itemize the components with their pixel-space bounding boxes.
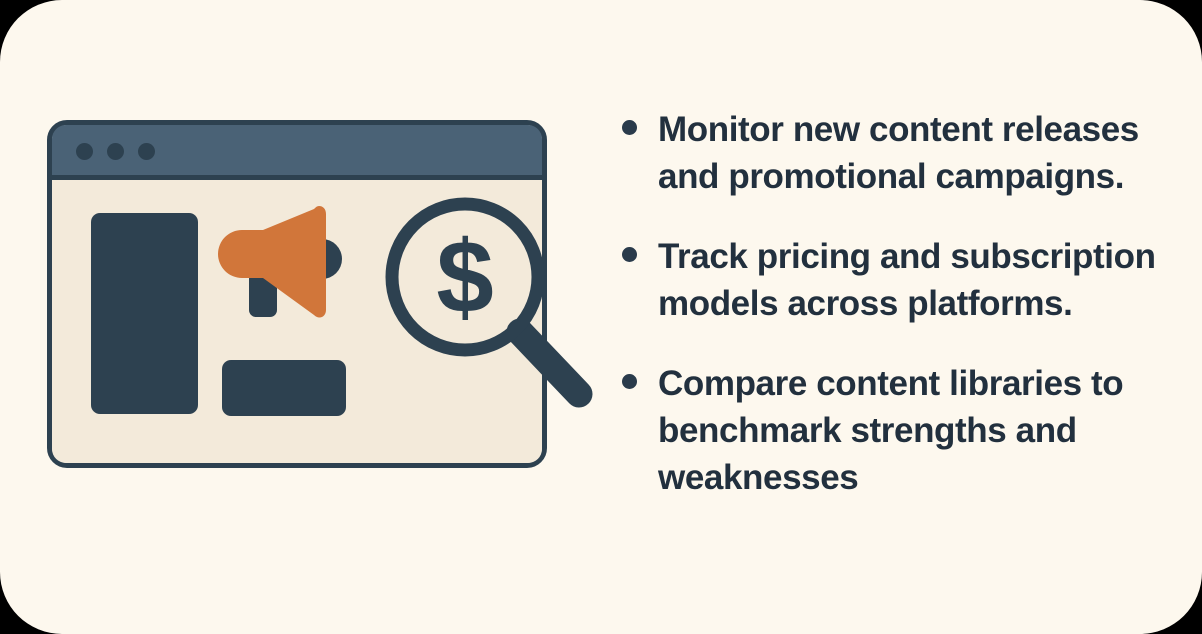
browser-window-illustration: $ <box>47 120 547 468</box>
bullet-item-label: Monitor new content releases and promoti… <box>658 106 1158 200</box>
dollar-symbol: $ <box>436 220 493 335</box>
illustration-pane: $ <box>0 0 600 634</box>
window-dot-close-icon <box>76 143 93 160</box>
bullet-point-icon <box>622 247 637 262</box>
window-control-dots <box>76 143 155 160</box>
content-block-left-tall <box>91 213 198 414</box>
megaphone-icon <box>217 200 352 330</box>
magnifier-dollar-icon: $ <box>372 182 602 417</box>
list-item: Track pricing and subscription models ac… <box>612 233 1202 327</box>
window-body: $ <box>52 180 542 463</box>
bullet-point-icon <box>622 120 637 135</box>
window-dot-minimize-icon <box>107 143 124 160</box>
bullet-item-label: Compare content libraries to benchmark s… <box>658 360 1158 501</box>
content-block-bottom-wide <box>222 360 346 416</box>
bullet-point-icon <box>622 374 637 389</box>
list-item: Compare content libraries to benchmark s… <box>612 360 1202 501</box>
list-item: Monitor new content releases and promoti… <box>612 106 1202 200</box>
slide-card: $ Monitor new content releases and promo… <box>0 0 1202 634</box>
window-titlebar <box>52 125 542 180</box>
bullet-list: Monitor new content releases and promoti… <box>612 0 1202 634</box>
bullet-item-label: Track pricing and subscription models ac… <box>658 233 1158 327</box>
window-dot-maximize-icon <box>138 143 155 160</box>
